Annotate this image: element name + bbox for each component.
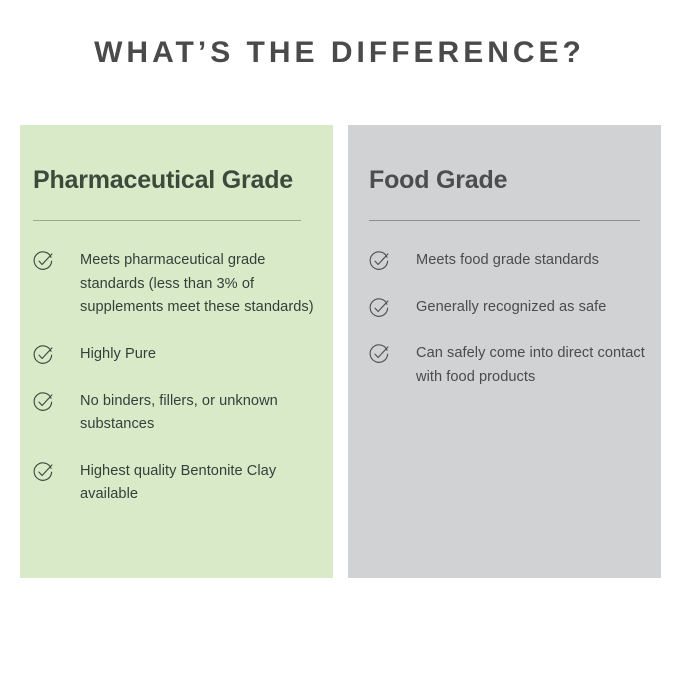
- check-circle-icon: [33, 462, 54, 483]
- panel-divider-pharmaceutical: [33, 220, 301, 221]
- list-item: Highest quality Bentonite Clay available: [33, 460, 321, 507]
- check-circle-icon: [33, 251, 54, 272]
- list-item-text: Highest quality Bentonite Clay available: [80, 460, 321, 507]
- list-item: Meets pharmaceutical grade standards (le…: [33, 249, 321, 320]
- feature-list-food: Meets food grade standards Generally rec…: [348, 249, 661, 390]
- page-title: WHAT’S THE DIFFERENCE?: [0, 36, 679, 70]
- list-item-text: Meets pharmaceutical grade standards (le…: [80, 249, 321, 320]
- panel-heading-pharmaceutical: Pharmaceutical Grade: [33, 164, 305, 196]
- list-item-text: Can safely come into direct contact with…: [416, 342, 649, 389]
- list-item: No binders, fillers, or unknown substanc…: [33, 390, 321, 437]
- panel-food-grade: Food Grade Meets food grade standards Ge…: [348, 125, 661, 578]
- panel-heading-food: Food Grade: [369, 164, 639, 196]
- list-item: Highly Pure: [33, 343, 321, 367]
- check-circle-icon: [369, 251, 390, 272]
- list-item: Meets food grade standards: [369, 249, 649, 273]
- feature-list-pharmaceutical: Meets pharmaceutical grade standards (le…: [20, 249, 333, 507]
- list-item-text: Meets food grade standards: [416, 249, 599, 273]
- list-item: Can safely come into direct contact with…: [369, 342, 649, 389]
- check-circle-icon: [369, 344, 390, 365]
- check-circle-icon: [369, 298, 390, 319]
- list-item-text: Highly Pure: [80, 343, 156, 367]
- check-circle-icon: [33, 345, 54, 366]
- check-circle-icon: [33, 392, 54, 413]
- list-item-text: Generally recognized as safe: [416, 296, 606, 320]
- list-item-text: No binders, fillers, or unknown substanc…: [80, 390, 321, 437]
- panel-pharmaceutical-grade: Pharmaceutical Grade Meets pharmaceutica…: [20, 125, 333, 578]
- panel-divider-food: [369, 220, 640, 221]
- list-item: Generally recognized as safe: [369, 296, 649, 320]
